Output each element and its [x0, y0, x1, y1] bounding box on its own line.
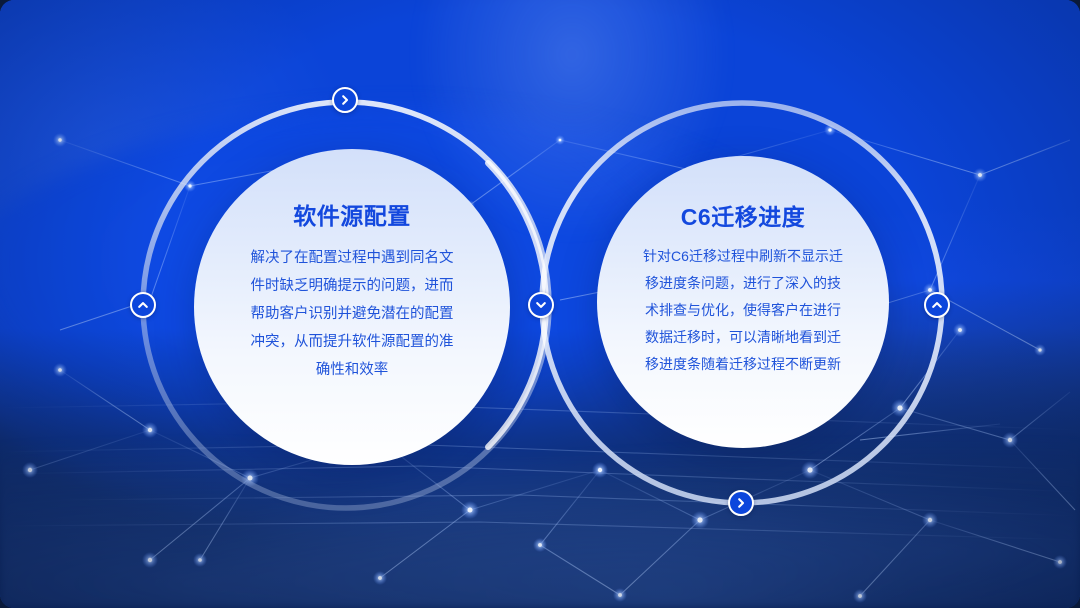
badge-center[interactable] — [528, 292, 554, 318]
card-title: 软件源配置 — [293, 205, 411, 228]
chevron-up-icon — [137, 299, 149, 311]
chevron-down-icon — [535, 299, 547, 311]
chevron-up-icon — [931, 299, 943, 311]
card-body-line: 确性和效率 — [220, 356, 484, 384]
card-software-source-config[interactable]: 软件源配置 解决了在配置过程中遇到同名文 件时缺乏明确提示的问题，进而 帮助客户… — [194, 149, 510, 465]
badge-top-left[interactable] — [332, 87, 358, 113]
badge-mid-right[interactable] — [924, 292, 950, 318]
chevron-right-icon — [339, 94, 351, 106]
card-body-line: 数据迁移时，可以清晰地看到迁 — [619, 324, 867, 351]
card-body: 解决了在配置过程中遇到同名文 件时缺乏明确提示的问题，进而 帮助客户识别并避免潜… — [220, 244, 484, 384]
card-body-line: 移进度条问题，进行了深入的技 — [619, 270, 867, 297]
card-title: C6迁移进度 — [681, 206, 805, 229]
card-body: 针对C6迁移过程中刷新不显示迁 移进度条问题，进行了深入的技 术排查与优化，使得… — [619, 243, 867, 378]
card-body-line: 件时缺乏明确提示的问题，进而 — [220, 272, 484, 300]
badge-mid-left[interactable] — [130, 292, 156, 318]
slide-canvas: 软件源配置 解决了在配置过程中遇到同名文 件时缺乏明确提示的问题，进而 帮助客户… — [0, 0, 1080, 608]
badge-bottom-right[interactable] — [728, 490, 754, 516]
card-body-line: 术排查与优化，使得客户在进行 — [619, 297, 867, 324]
card-body-line: 针对C6迁移过程中刷新不显示迁 — [619, 243, 867, 270]
card-body-line: 冲突，从而提升软件源配置的准 — [220, 328, 484, 356]
chevron-right-icon — [735, 497, 747, 509]
card-body-line: 移进度条随着迁移过程不断更新 — [619, 351, 867, 378]
card-body-line: 帮助客户识别并避免潜在的配置 — [220, 300, 484, 328]
card-c6-migration-progress[interactable]: C6迁移进度 针对C6迁移过程中刷新不显示迁 移进度条问题，进行了深入的技 术排… — [597, 156, 889, 448]
card-body-line: 解决了在配置过程中遇到同名文 — [220, 244, 484, 272]
